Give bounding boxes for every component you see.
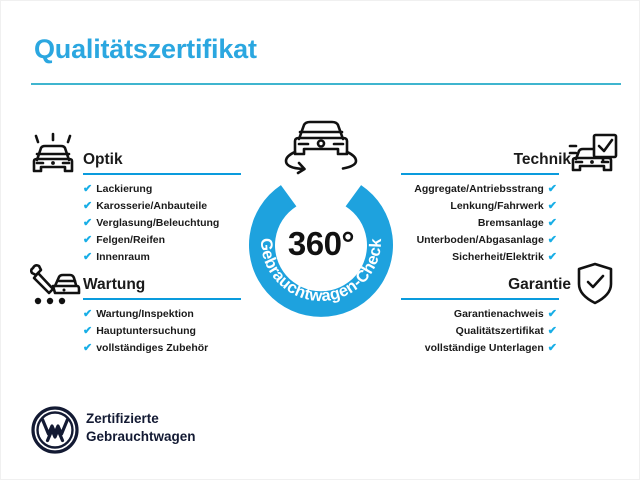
section-divider-garantie (401, 298, 559, 300)
list-item: Garantienachweis✔ (425, 306, 557, 323)
check-icon: ✔ (548, 340, 557, 357)
list-item-label: Garantienachweis (454, 308, 544, 320)
car-checkbox-icon (567, 132, 619, 180)
badge-360-ring: Gebrauchtwagen-Check 360° (239, 159, 403, 323)
list-item-label: Sicherheit/Elektrik (452, 251, 544, 263)
list-item: ✔Innenraum (83, 249, 219, 266)
section-divider-wartung (83, 298, 241, 300)
car-shine-icon (27, 132, 79, 180)
checklist-optik: ✔Lackierung ✔Karosserie/Anbauteile ✔Verg… (83, 181, 219, 266)
section-heading-optik: Optik (83, 151, 123, 169)
check-icon: ✔ (548, 323, 557, 340)
check-icon: ✔ (83, 323, 92, 340)
list-item: vollständige Unterlagen✔ (425, 340, 557, 357)
list-item: ✔Hauptuntersuchung (83, 323, 208, 340)
wrench-car-icon (25, 260, 81, 308)
section-divider-optik (83, 173, 241, 175)
list-item-label: Bremsanlage (478, 217, 544, 229)
shield-check-icon (573, 260, 617, 308)
list-item: Aggregate/Antriebsstrang✔ (414, 181, 557, 198)
list-item-label: Wartung/Inspektion (96, 308, 194, 320)
check-icon: ✔ (83, 215, 92, 232)
list-item: ✔Lackierung (83, 181, 219, 198)
list-item: ✔Wartung/Inspektion (83, 306, 208, 323)
check-icon: ✔ (548, 306, 557, 323)
check-icon: ✔ (548, 249, 557, 266)
list-item: Qualitätszertifikat✔ (425, 323, 557, 340)
section-divider-technik (401, 173, 559, 175)
list-item-label: Aggregate/Antriebsstrang (414, 183, 544, 195)
check-icon: ✔ (548, 232, 557, 249)
list-item: Unterboden/Abgasanlage✔ (414, 232, 557, 249)
header-divider (31, 83, 621, 85)
list-item-label: Verglasung/Beleuchtung (96, 217, 219, 229)
list-item-label: vollständiges Zubehör (96, 342, 208, 354)
list-item: Bremsanlage✔ (414, 215, 557, 232)
check-icon: ✔ (83, 232, 92, 249)
list-item-label: Innenraum (96, 251, 150, 263)
certificate-page: Qualitätszertifikat Optik ✔Lackierung ✔K… (0, 0, 640, 480)
check-icon: ✔ (83, 340, 92, 357)
vw-logo-text: Zertifizierte Gebrauchtwagen (86, 410, 196, 446)
check-icon: ✔ (83, 181, 92, 198)
list-item: Lenkung/Fahrwerk✔ (414, 198, 557, 215)
section-heading-technik: Technik (514, 151, 571, 169)
check-icon: ✔ (548, 198, 557, 215)
list-item-label: vollständige Unterlagen (425, 342, 544, 354)
section-heading-garantie: Garantie (508, 276, 571, 294)
check-icon: ✔ (548, 215, 557, 232)
list-item-label: Hauptuntersuchung (96, 325, 196, 337)
list-item: Sicherheit/Elektrik✔ (414, 249, 557, 266)
list-item: ✔vollständiges Zubehör (83, 340, 208, 357)
checklist-wartung: ✔Wartung/Inspektion ✔Hauptuntersuchung ✔… (83, 306, 208, 357)
list-item-label: Qualitätszertifikat (456, 325, 544, 337)
vw-logo-text-line1: Zertifizierte (86, 410, 196, 428)
list-item: ✔Felgen/Reifen (83, 232, 219, 249)
check-icon: ✔ (548, 181, 557, 198)
section-heading-wartung: Wartung (83, 276, 145, 294)
list-item-label: Lenkung/Fahrwerk (450, 200, 543, 212)
vw-logo-text-line2: Gebrauchtwagen (86, 428, 196, 446)
list-item-label: Karosserie/Anbauteile (96, 200, 207, 212)
list-item-label: Felgen/Reifen (96, 234, 165, 246)
vw-logo (31, 406, 79, 454)
list-item: ✔Verglasung/Beleuchtung (83, 215, 219, 232)
page-title: Qualitätszertifikat (34, 34, 257, 65)
list-item-label: Lackierung (96, 183, 152, 195)
list-item-label: Unterboden/Abgasanlage (417, 234, 544, 246)
check-icon: ✔ (83, 306, 92, 323)
list-item: ✔Karosserie/Anbauteile (83, 198, 219, 215)
check-icon: ✔ (83, 198, 92, 215)
check-icon: ✔ (83, 249, 92, 266)
checklist-technik: Aggregate/Antriebsstrang✔ Lenkung/Fahrwe… (414, 181, 557, 266)
car-front-rotate-icon (273, 113, 369, 175)
checklist-garantie: Garantienachweis✔ Qualitätszertifikat✔ v… (425, 306, 557, 357)
